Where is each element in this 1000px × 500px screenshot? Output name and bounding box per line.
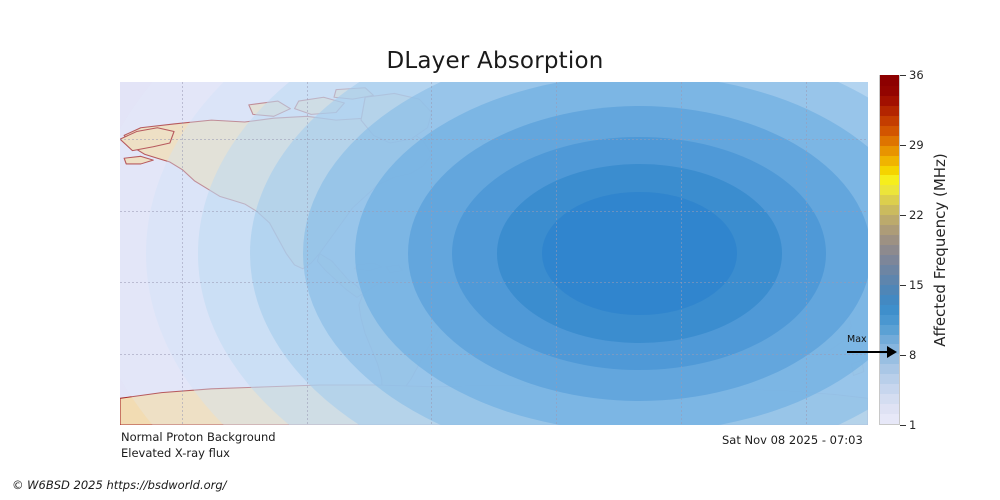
colorbar-segment (880, 95, 899, 106)
colorbar-segment (880, 235, 899, 246)
colorbar-segment (880, 165, 899, 176)
colorbar-segment (880, 185, 899, 196)
colorbar-segment (880, 135, 899, 146)
colorbar-segment (880, 145, 899, 156)
colorbar-tick-label: 36 (909, 68, 924, 82)
max-arrow-head (887, 346, 897, 358)
colorbar-tick-mark (900, 215, 906, 216)
colorbar-segment (880, 205, 899, 216)
colorbar-segment (880, 304, 899, 315)
colorbar-segment (880, 115, 899, 126)
colorbar-segment (880, 215, 899, 226)
colorbar-segment (880, 294, 899, 305)
colorbar-segment (880, 284, 899, 295)
colorbar-segment (880, 155, 899, 166)
colorbar-tick-label: 1 (909, 418, 916, 432)
colorbar-segment (880, 413, 899, 424)
colorbar-segment (880, 85, 899, 96)
colorbar-tick-label: 22 (909, 208, 924, 222)
colorbar-tick-mark (900, 145, 906, 146)
colorbar-segment (880, 195, 899, 206)
max-annotation: Max (845, 334, 901, 362)
colorbar-tick-mark (900, 285, 906, 286)
max-annotation-label: Max (847, 334, 867, 345)
colorbar-segment (880, 374, 899, 385)
xray-status-note: Elevated X-ray flux (121, 446, 230, 460)
colorbar-segment (880, 105, 899, 116)
colorbar-segment (880, 324, 899, 335)
colorbar-segment (880, 175, 899, 186)
colorbar-segment (880, 244, 899, 255)
colorbar-segment (880, 404, 899, 415)
colorbar-segment (880, 254, 899, 265)
figure-root: DLayer Absorption (0, 0, 1000, 500)
colorbar-tick-label: 8 (909, 348, 916, 362)
colorbar-gradient (879, 75, 900, 425)
colorbar-tick-label: 29 (909, 138, 924, 152)
colorbar-segment (880, 264, 899, 275)
colorbar-tick-mark (900, 75, 906, 76)
timestamp-label: Sat Nov 08 2025 - 07:03 (722, 433, 863, 447)
colorbar-segment (880, 225, 899, 236)
colorbar-axis-label-text: Affected Frequency (MHz) (931, 153, 949, 347)
colorbar-segment (880, 364, 899, 375)
colorbar-axis-label: Affected Frequency (MHz) (930, 75, 950, 425)
page-title: DLayer Absorption (0, 48, 990, 74)
colorbar-segment (880, 314, 899, 325)
colorbar-tick-label: 15 (909, 278, 924, 292)
colorbar-segment (880, 75, 899, 86)
colorbar-segment (880, 384, 899, 395)
colorbar-segment (880, 274, 899, 285)
world-map[interactable] (120, 82, 868, 425)
colorbar: 1815222936 (879, 75, 900, 425)
footer-credit: © W6BSD 2025 https://bsdworld.org/ (12, 478, 227, 492)
max-arrow-line (847, 351, 889, 353)
proton-status-note: Normal Proton Background (121, 430, 276, 444)
colorbar-segment (880, 394, 899, 405)
colorbar-tick-mark (900, 425, 906, 426)
colorbar-segment (880, 125, 899, 136)
coastline-map (120, 82, 868, 425)
